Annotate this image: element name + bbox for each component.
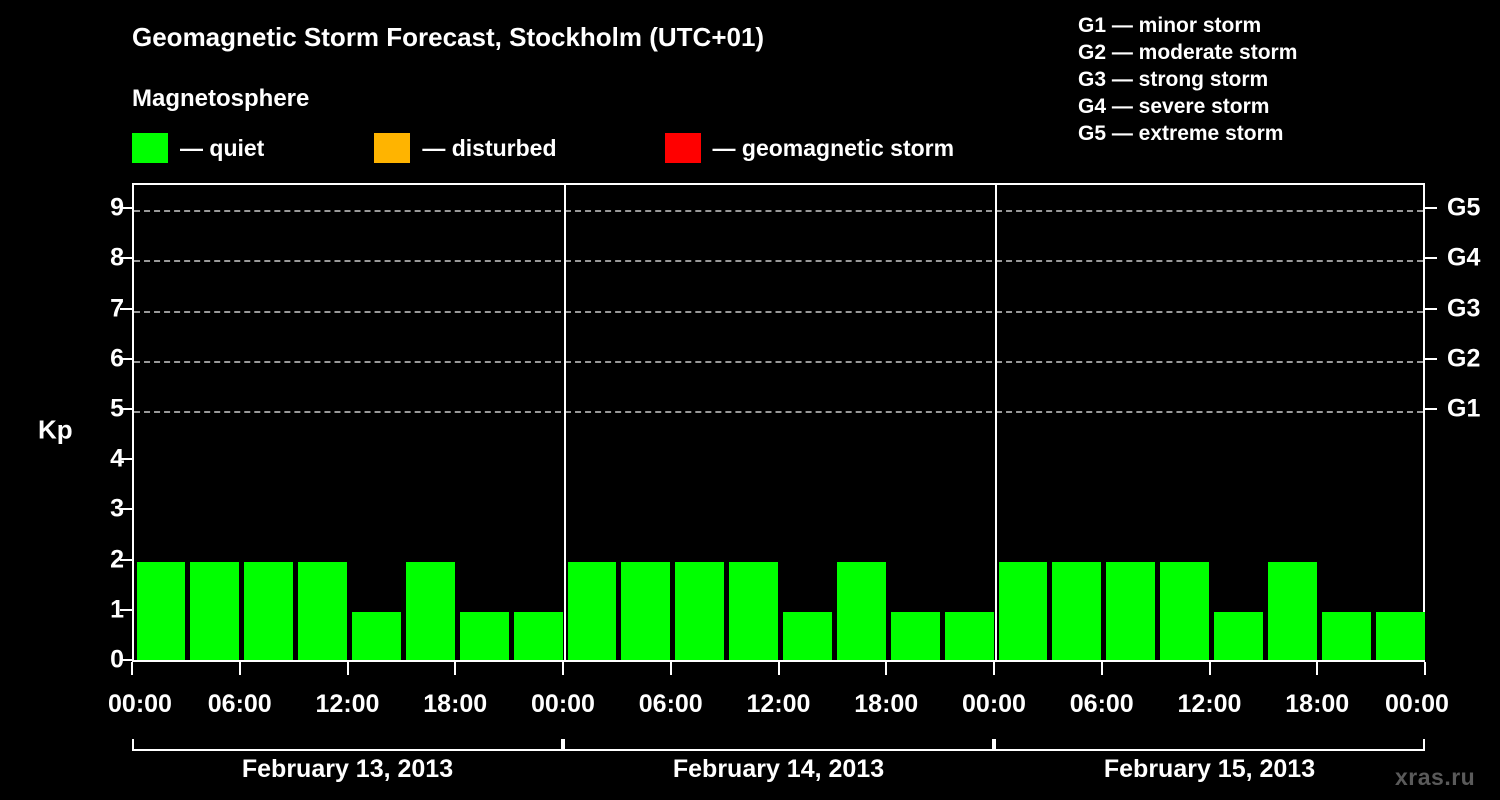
kp-bar bbox=[568, 562, 617, 662]
x-tick-label-12: 00:00 bbox=[1385, 690, 1449, 719]
g-tick-mark-G1 bbox=[1425, 408, 1437, 410]
g-tick-mark-G5 bbox=[1425, 207, 1437, 209]
day-divider-2 bbox=[995, 185, 997, 662]
y-tick-label-2: 2 bbox=[84, 545, 124, 574]
legend-entry-disturbed: — disturbed bbox=[374, 133, 556, 163]
y-tick-label-3: 3 bbox=[84, 495, 124, 524]
x-tick-mark-4 bbox=[562, 662, 564, 675]
date-bracket-1 bbox=[132, 739, 563, 751]
page-title: Geomagnetic Storm Forecast, Stockholm (U… bbox=[132, 22, 764, 53]
kp-bar bbox=[406, 562, 455, 662]
y-tick-label-9: 9 bbox=[84, 194, 124, 223]
x-tick-mark-0 bbox=[131, 662, 133, 675]
date-bracket-3 bbox=[994, 739, 1425, 751]
x-tick-mark-1 bbox=[239, 662, 241, 675]
kp-bar bbox=[460, 612, 509, 662]
kp-bar bbox=[1160, 562, 1209, 662]
x-tick-label-6: 12:00 bbox=[747, 690, 811, 719]
kp-bar bbox=[137, 562, 186, 662]
x-tick-label-7: 18:00 bbox=[854, 690, 918, 719]
date-label-1: February 13, 2013 bbox=[242, 755, 453, 784]
x-tick-label-2: 12:00 bbox=[316, 690, 380, 719]
watermark: xras.ru bbox=[1395, 764, 1475, 791]
x-tick-mark-2 bbox=[347, 662, 349, 675]
g-tick-mark-G3 bbox=[1425, 308, 1437, 310]
x-tick-label-9: 06:00 bbox=[1070, 690, 1134, 719]
x-tick-mark-11 bbox=[1316, 662, 1318, 675]
legend-label-quiet: — quiet bbox=[180, 135, 264, 162]
kp-bar bbox=[1052, 562, 1101, 662]
gridline-kp-5 bbox=[134, 411, 1423, 413]
kp-bar bbox=[298, 562, 347, 662]
kp-bar bbox=[1214, 612, 1263, 662]
x-tick-label-8: 00:00 bbox=[962, 690, 1026, 719]
plot-area bbox=[134, 185, 1423, 662]
y-tick-label-0: 0 bbox=[84, 646, 124, 675]
y-tick-label-7: 7 bbox=[84, 294, 124, 323]
date-label-2: February 14, 2013 bbox=[673, 755, 884, 784]
x-tick-mark-6 bbox=[778, 662, 780, 675]
activity-legend: — quiet— disturbed— geomagnetic storm bbox=[132, 133, 954, 163]
kp-bar bbox=[1322, 612, 1371, 662]
kp-bar bbox=[675, 562, 724, 662]
x-tick-label-4: 00:00 bbox=[531, 690, 595, 719]
gridline-kp-8 bbox=[134, 260, 1423, 262]
g-axis-label-G3: G3 bbox=[1447, 294, 1480, 323]
y-tick-label-6: 6 bbox=[84, 344, 124, 373]
kp-bar bbox=[783, 612, 832, 662]
gscale-legend-row-5: G5 — extreme storm bbox=[1078, 120, 1297, 147]
legend-label-disturbed: — disturbed bbox=[422, 135, 556, 162]
kp-bar bbox=[190, 562, 239, 662]
x-tick-mark-9 bbox=[1101, 662, 1103, 675]
x-tick-mark-7 bbox=[885, 662, 887, 675]
x-tick-label-11: 18:00 bbox=[1285, 690, 1349, 719]
g-tick-mark-G4 bbox=[1425, 257, 1437, 259]
gridline-kp-6 bbox=[134, 361, 1423, 363]
section-label-magnetosphere: Magnetosphere bbox=[132, 85, 309, 113]
kp-bar bbox=[1376, 612, 1425, 662]
x-tick-label-5: 06:00 bbox=[639, 690, 703, 719]
gscale-legend-row-3: G3 — strong storm bbox=[1078, 66, 1297, 93]
x-tick-mark-5 bbox=[670, 662, 672, 675]
kp-bar bbox=[1268, 562, 1317, 662]
y-axis-title: Kp bbox=[38, 415, 73, 446]
kp-bar bbox=[999, 562, 1048, 662]
x-tick-mark-8 bbox=[993, 662, 995, 675]
y-tick-label-4: 4 bbox=[84, 445, 124, 474]
kp-bar bbox=[891, 612, 940, 662]
x-tick-mark-10 bbox=[1209, 662, 1211, 675]
y-tick-label-8: 8 bbox=[84, 244, 124, 273]
kp-bar bbox=[1106, 562, 1155, 662]
y-tick-label-1: 1 bbox=[84, 595, 124, 624]
plot-frame bbox=[132, 183, 1425, 662]
gscale-legend-row-2: G2 — moderate storm bbox=[1078, 39, 1297, 66]
gscale-legend-row-1: G1 — minor storm bbox=[1078, 12, 1297, 39]
x-tick-mark-3 bbox=[454, 662, 456, 675]
date-label-3: February 15, 2013 bbox=[1104, 755, 1315, 784]
gridline-kp-7 bbox=[134, 311, 1423, 313]
gscale-legend-row-4: G4 — severe storm bbox=[1078, 93, 1297, 120]
kp-bar bbox=[352, 612, 401, 662]
x-tick-mark-12 bbox=[1424, 662, 1426, 675]
geomagnetic-forecast-chart: Geomagnetic Storm Forecast, Stockholm (U… bbox=[0, 0, 1500, 800]
kp-bar bbox=[244, 562, 293, 662]
x-tick-label-3: 18:00 bbox=[423, 690, 487, 719]
kp-bar bbox=[837, 562, 886, 662]
kp-bar bbox=[514, 612, 563, 662]
legend-swatch-disturbed bbox=[374, 133, 410, 163]
kp-bar bbox=[621, 562, 670, 662]
g-axis-label-G1: G1 bbox=[1447, 394, 1480, 423]
kp-bar bbox=[945, 612, 994, 662]
x-tick-label-10: 12:00 bbox=[1178, 690, 1242, 719]
gridline-kp-9 bbox=[134, 210, 1423, 212]
legend-entry-quiet: — quiet bbox=[132, 133, 264, 163]
g-axis-label-G4: G4 bbox=[1447, 244, 1480, 273]
day-divider-1 bbox=[564, 185, 566, 662]
legend-entry-geomagnetic-storm: — geomagnetic storm bbox=[665, 133, 955, 163]
x-tick-label-0: 00:00 bbox=[108, 690, 172, 719]
legend-swatch-geomagnetic-storm bbox=[665, 133, 701, 163]
kp-bar bbox=[729, 562, 778, 662]
legend-swatch-quiet bbox=[132, 133, 168, 163]
g-tick-mark-G2 bbox=[1425, 358, 1437, 360]
g-axis-label-G5: G5 bbox=[1447, 194, 1480, 223]
legend-label-geomagnetic-storm: — geomagnetic storm bbox=[713, 135, 955, 162]
date-bracket-2 bbox=[563, 739, 994, 751]
x-tick-label-1: 06:00 bbox=[208, 690, 272, 719]
y-tick-label-5: 5 bbox=[84, 394, 124, 423]
g-axis-label-G2: G2 bbox=[1447, 344, 1480, 373]
gscale-legend: G1 — minor stormG2 — moderate stormG3 — … bbox=[1078, 12, 1297, 147]
